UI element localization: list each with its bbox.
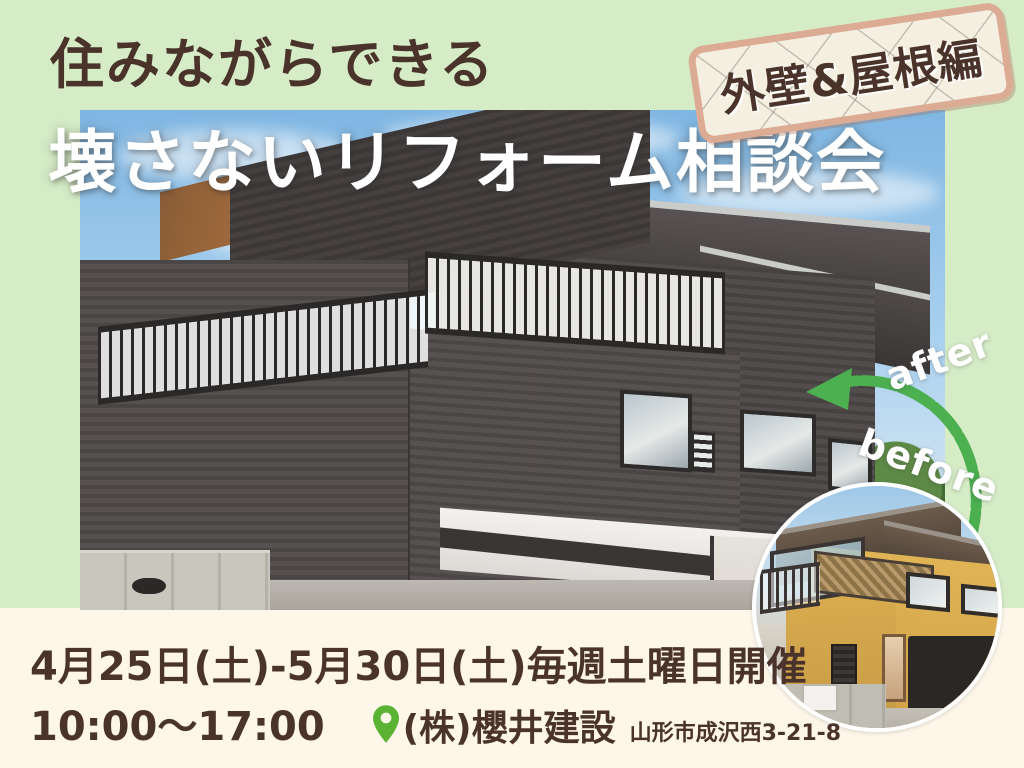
before-window (906, 572, 950, 613)
poster-root: 住みながらできる 壊さないリフォーム相談会 外壁&屋根編 after befor… (0, 0, 1024, 768)
event-dates: 4月25日(土)-5月30日(土)毎週土曜日開催 (30, 634, 807, 692)
company-address: 山形市成沢西3-21-8 (630, 715, 842, 747)
house-window (620, 389, 692, 472)
before-window (961, 584, 1002, 618)
before-entrance-dark (908, 636, 998, 714)
company-name: (株)櫻井建設 (403, 699, 616, 751)
event-time: 10:00〜17:00 (30, 694, 325, 752)
subtitle-text: 住みながらできる (50, 38, 495, 92)
concrete-block-wall (80, 550, 270, 610)
house-vent-window (691, 431, 715, 473)
map-pin-icon (371, 704, 401, 744)
block-wall-vent (132, 578, 166, 594)
event-details-row: 10:00〜17:00 (株)櫻井建設 山形市成沢西3-21-8 (30, 694, 841, 752)
before-balcony-railing (760, 562, 820, 614)
page-title: 壊さないリフォーム相談会 (48, 130, 886, 198)
